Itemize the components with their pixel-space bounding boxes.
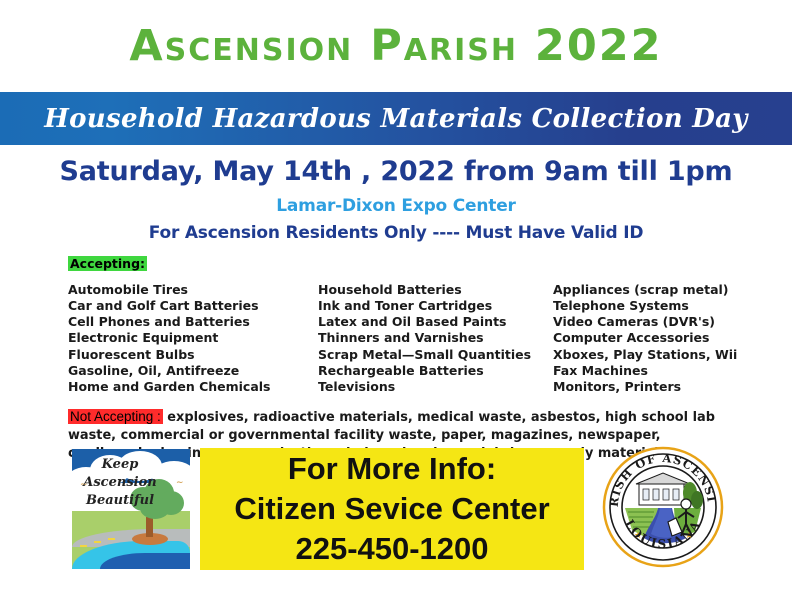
road-dash [108, 538, 115, 540]
list-item: Car and Golf Cart Batteries [68, 298, 318, 314]
list-item: Automobile Tires [68, 282, 318, 298]
list-item: Electronic Equipment [68, 330, 318, 346]
list-item: Latex and Oil Based Paints [318, 314, 553, 330]
list-item: Xboxes, Play Stations, Wii [553, 347, 768, 363]
phone-number: 225-450-1200 [295, 529, 488, 569]
accepted-items-columns: Automobile Tires Car and Golf Cart Batte… [68, 282, 768, 395]
info-line-2: Citizen Sevice Center [234, 489, 549, 529]
page-title: Ascension Parish 2022 [129, 25, 662, 68]
list-item: Telephone Systems [553, 298, 768, 314]
road-dash [80, 545, 87, 547]
logo-line-3: Beautiful [80, 493, 160, 508]
accepted-items-column-1: Automobile Tires Car and Golf Cart Batte… [68, 282, 318, 395]
contact-info-box: For More Info: Citizen Sevice Center 225… [200, 448, 584, 570]
list-item: Video Cameras (DVR's) [553, 314, 768, 330]
not-accepting-label: Not Accepting : [68, 409, 163, 424]
list-item: Fax Machines [553, 363, 768, 379]
residents-requirement-note: For Ascension Residents Only ---- Must H… [0, 223, 792, 243]
list-item: Ink and Toner Cartridges [318, 298, 553, 314]
list-item: Cell Phones and Batteries [68, 314, 318, 330]
list-item: Home and Garden Chemicals [68, 379, 318, 395]
info-line-1: For More Info: [288, 449, 496, 489]
event-details: Saturday, May 14th , 2022 from 9am till … [0, 145, 792, 243]
list-item: Household Batteries [318, 282, 553, 298]
logo-tree-trunk [146, 517, 153, 537]
title-section: Ascension Parish 2022 [0, 0, 792, 92]
accepting-label: Accepting: [68, 256, 147, 272]
logo-line-2: Ascension [78, 475, 162, 490]
list-item: Gasoline, Oil, Antifreeze [68, 363, 318, 379]
list-item: Thinners and Varnishes [318, 330, 553, 346]
list-item: Fluorescent Bulbs [68, 347, 318, 363]
list-item: Televisions [318, 379, 553, 395]
accepted-items-column-3: Appliances (scrap metal) Telephone Syste… [553, 282, 768, 395]
logo-line-1: Keep [84, 457, 156, 472]
road-dash [94, 541, 101, 543]
accepting-heading-row: Accepting: [68, 255, 792, 273]
list-item: Appliances (scrap metal) [553, 282, 768, 298]
event-banner-text: Household Hazardous Materials Collection… [44, 104, 747, 134]
parish-of-ascension-seal: ★ ★ PARISH OF ASCENSION LOUISIANA [602, 446, 724, 568]
event-venue: Lamar-Dixon Expo Center [0, 196, 792, 216]
list-item: Scrap Metal—Small Quantities [318, 347, 553, 363]
event-banner: Household Hazardous Materials Collection… [0, 92, 792, 145]
accepted-items-column-2: Household Batteries Ink and Toner Cartri… [318, 282, 553, 395]
bird-icon: ∼ [176, 479, 184, 488]
keep-ascension-beautiful-logo: ∼ ∼ Keep Ascension Beautiful [72, 449, 190, 569]
event-date-time: Saturday, May 14th , 2022 from 9am till … [0, 157, 792, 187]
footer-row: ∼ ∼ Keep Ascension Beautiful For More In… [0, 446, 792, 576]
list-item: Computer Accessories [553, 330, 768, 346]
list-item: Monitors, Printers [553, 379, 768, 395]
list-item: Rechargeable Batteries [318, 363, 553, 379]
